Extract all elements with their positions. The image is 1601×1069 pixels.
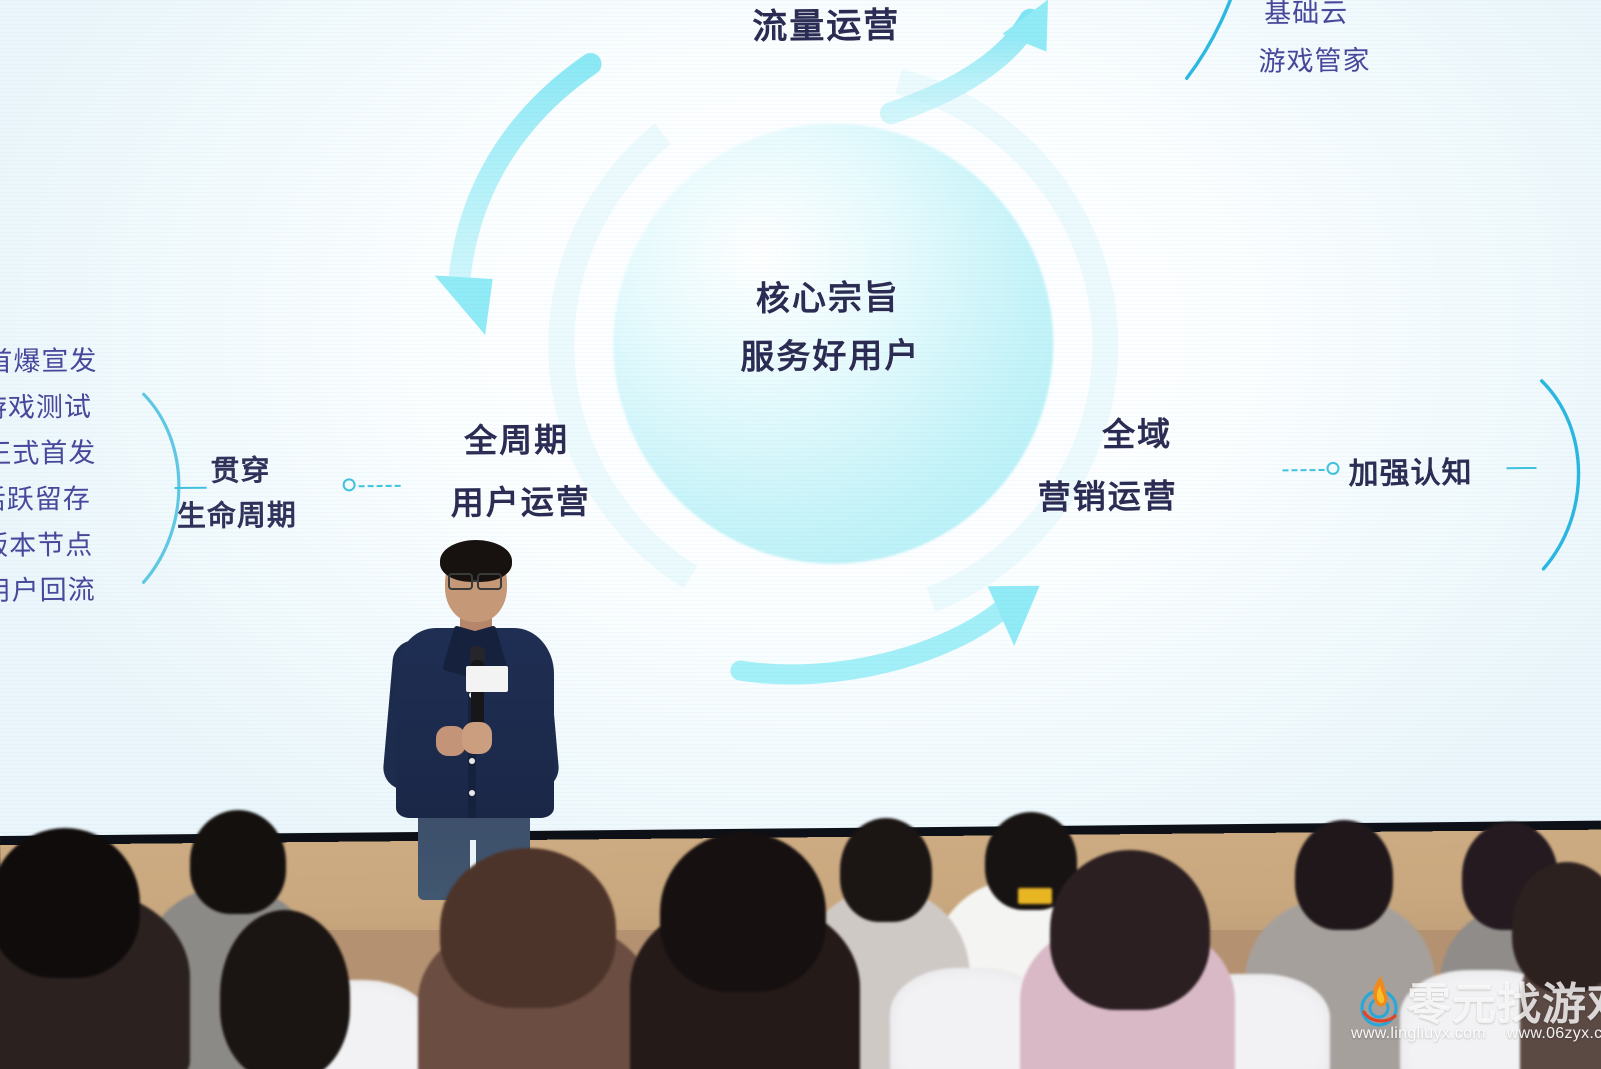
right-node-label: 加强认知 bbox=[1348, 448, 1472, 493]
right-pillar-line1: 全域 bbox=[1102, 407, 1172, 456]
speaker-hand-right bbox=[462, 722, 492, 754]
slide-top-label: 流量运营 bbox=[752, 0, 900, 49]
watermark: 零元找游戏 www.lingliuyx.com www.06zyx.com bbox=[1345, 962, 1601, 1062]
speaker-glasses-right-lens bbox=[477, 573, 502, 590]
left-pillar-line1: 全周期 bbox=[464, 413, 569, 462]
name-badge bbox=[1018, 888, 1052, 904]
core-purpose-line1: 核心宗旨 bbox=[756, 270, 900, 320]
speaker-glasses-bridge bbox=[472, 580, 479, 582]
right-bracket-arc bbox=[1542, 381, 1580, 569]
right-list-item-1: 基础云 bbox=[1264, 0, 1348, 31]
left-node-line1: 贯穿 bbox=[210, 447, 270, 490]
microphone-flag bbox=[466, 666, 508, 692]
screenshot-root: 流量运营 核心宗旨 服务好用户 全周期 用户运营 全域 营销运营 贯穿 生命周期… bbox=[0, 0, 1601, 1069]
presentation-screen: 流量运营 核心宗旨 服务好用户 全周期 用户运营 全域 营销运营 贯穿 生命周期… bbox=[0, 0, 1601, 842]
connector-dot-left bbox=[343, 478, 356, 491]
left-pillar-line2: 用户运营 bbox=[451, 475, 591, 524]
speaker-shirt-button bbox=[469, 758, 475, 764]
left-list-item-3: 正式首发 bbox=[0, 431, 96, 471]
connector-line-right bbox=[1506, 467, 1536, 469]
watermark-url-secondary: www.06zyx.com bbox=[1507, 1025, 1601, 1042]
audience-head bbox=[0, 828, 140, 978]
connector-line-left bbox=[175, 487, 207, 489]
connector-dot-right bbox=[1326, 462, 1339, 475]
left-list-item-1: 首爆宣发 bbox=[0, 339, 98, 379]
watermark-url-primary: www.lingliuyx.com bbox=[1351, 1025, 1486, 1042]
connector-dash-right bbox=[1283, 469, 1325, 471]
audience-head bbox=[840, 818, 932, 922]
speaker-glasses-left-lens bbox=[448, 573, 473, 590]
left-list-item-6: 用户回流 bbox=[0, 568, 96, 608]
flame-swirl-logo-icon bbox=[1351, 972, 1407, 1028]
right-list-item-2: 游戏管家 bbox=[1258, 39, 1370, 79]
right-pillar-line2: 营销运营 bbox=[1038, 469, 1178, 518]
watermark-urls: www.lingliuyx.com www.06zyx.com bbox=[1351, 1025, 1601, 1043]
audience-head bbox=[1295, 820, 1393, 930]
audience-head bbox=[1050, 850, 1210, 1010]
core-purpose-line2: 服务好用户 bbox=[740, 328, 920, 379]
audience-head bbox=[660, 832, 826, 992]
audience-head bbox=[220, 910, 350, 1069]
left-node-line2: 生命周期 bbox=[177, 492, 297, 535]
audience-head bbox=[440, 848, 616, 1008]
top-right-arc bbox=[1186, 0, 1249, 78]
left-list-item-4: 活跃留存 bbox=[0, 477, 91, 517]
connector-dash-left bbox=[359, 485, 401, 487]
left-list-item-2: 游戏测试 bbox=[0, 385, 92, 425]
watermark-brand: 零元找游戏 bbox=[1407, 968, 1601, 1032]
audience-head bbox=[190, 810, 286, 914]
arrow-bottom-right-up bbox=[740, 586, 1041, 675]
slide-content: 流量运营 核心宗旨 服务好用户 全周期 用户运营 全域 营销运营 贯穿 生命周期… bbox=[0, 0, 1601, 842]
left-list-item-5: 版本节点 bbox=[0, 523, 93, 563]
cycle-arrows-svg bbox=[0, 0, 1601, 842]
